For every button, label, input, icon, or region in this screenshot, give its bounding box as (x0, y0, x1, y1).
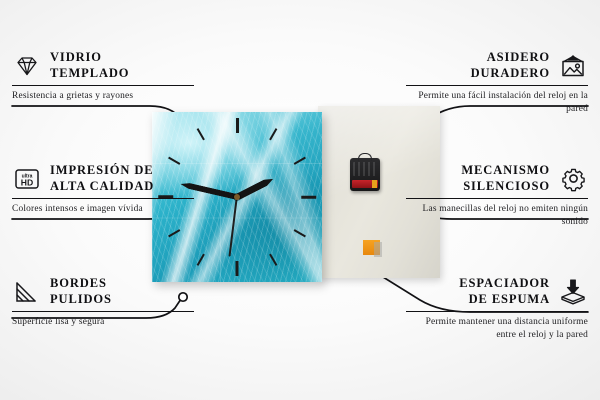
feature-description: Colores intensos e imagen vívida (12, 203, 194, 216)
feature-heading: MECANISMO SILENCIOSO (406, 163, 588, 194)
feature-heading: ASIDERO DURADERO (406, 50, 588, 81)
feature-espaciador-de-espuma: ESPACIADOR DE ESPUMA Permite mantener un… (406, 276, 588, 342)
feature-description: Resistencia a grietas y rayones (12, 90, 194, 103)
feature-description: Permite mantener una distancia uniforme … (406, 316, 588, 341)
feature-divider (12, 198, 194, 199)
feature-title: BORDES PULIDOS (50, 276, 112, 307)
movement-grill (353, 162, 377, 176)
polished-edges-icon (12, 277, 42, 307)
feature-vidrio-templado: VIDRIO TEMPLADO Resistencia a grietas y … (12, 50, 194, 103)
feature-asidero-duradero: ASIDERO DURADERO Permite una fácil insta… (406, 50, 588, 116)
clock-tick (301, 196, 316, 199)
gear-icon (558, 164, 588, 194)
infographic-canvas: VIDRIO TEMPLADO Resistencia a grietas y … (0, 0, 600, 400)
feature-title: MECANISMO SILENCIOSO (461, 163, 550, 194)
feature-divider (12, 311, 194, 312)
feature-divider (12, 85, 194, 86)
feature-divider (406, 85, 588, 86)
feature-title: ASIDERO DURADERO (471, 50, 550, 81)
feature-description: Permite una fácil instalación del reloj … (406, 90, 588, 115)
battery-icon (352, 180, 378, 188)
feature-description: Superficie lisa y segura (12, 316, 194, 329)
clock-tick (236, 118, 239, 133)
feature-title: VIDRIO TEMPLADO (50, 50, 129, 81)
feature-impresion-alta-calidad: ultra HD IMPRESIÓN DE ALTA CALIDAD Color… (12, 163, 194, 216)
clock-tick (236, 261, 239, 276)
clock-center-cap (234, 194, 240, 200)
wall-hanger-icon (558, 51, 588, 81)
foam-spacer-icon (558, 277, 588, 307)
ultra-hd-icon: ultra HD (12, 164, 42, 194)
feature-divider (406, 311, 588, 312)
foam-spacer-pad (363, 240, 380, 255)
feature-heading: ultra HD IMPRESIÓN DE ALTA CALIDAD (12, 163, 194, 194)
diamond-icon (12, 51, 42, 81)
feature-bordes-pulidos: BORDES PULIDOS Superficie lisa y segura (12, 276, 194, 329)
feature-title: IMPRESIÓN DE ALTA CALIDAD (50, 163, 154, 194)
feature-heading: BORDES PULIDOS (12, 276, 194, 307)
svg-text:HD: HD (21, 177, 33, 187)
feature-divider (406, 198, 588, 199)
movement-hanger-icon (358, 153, 372, 161)
quartz-movement-icon (350, 158, 380, 191)
feature-description: Las manecillas del reloj no emiten ningú… (406, 203, 588, 228)
feature-title: ESPACIADOR DE ESPUMA (459, 276, 550, 307)
feature-heading: ESPACIADOR DE ESPUMA (406, 276, 588, 307)
feature-heading: VIDRIO TEMPLADO (12, 50, 194, 81)
feature-mecanismo-silencioso: MECANISMO SILENCIOSO Las manecillas del … (406, 163, 588, 229)
